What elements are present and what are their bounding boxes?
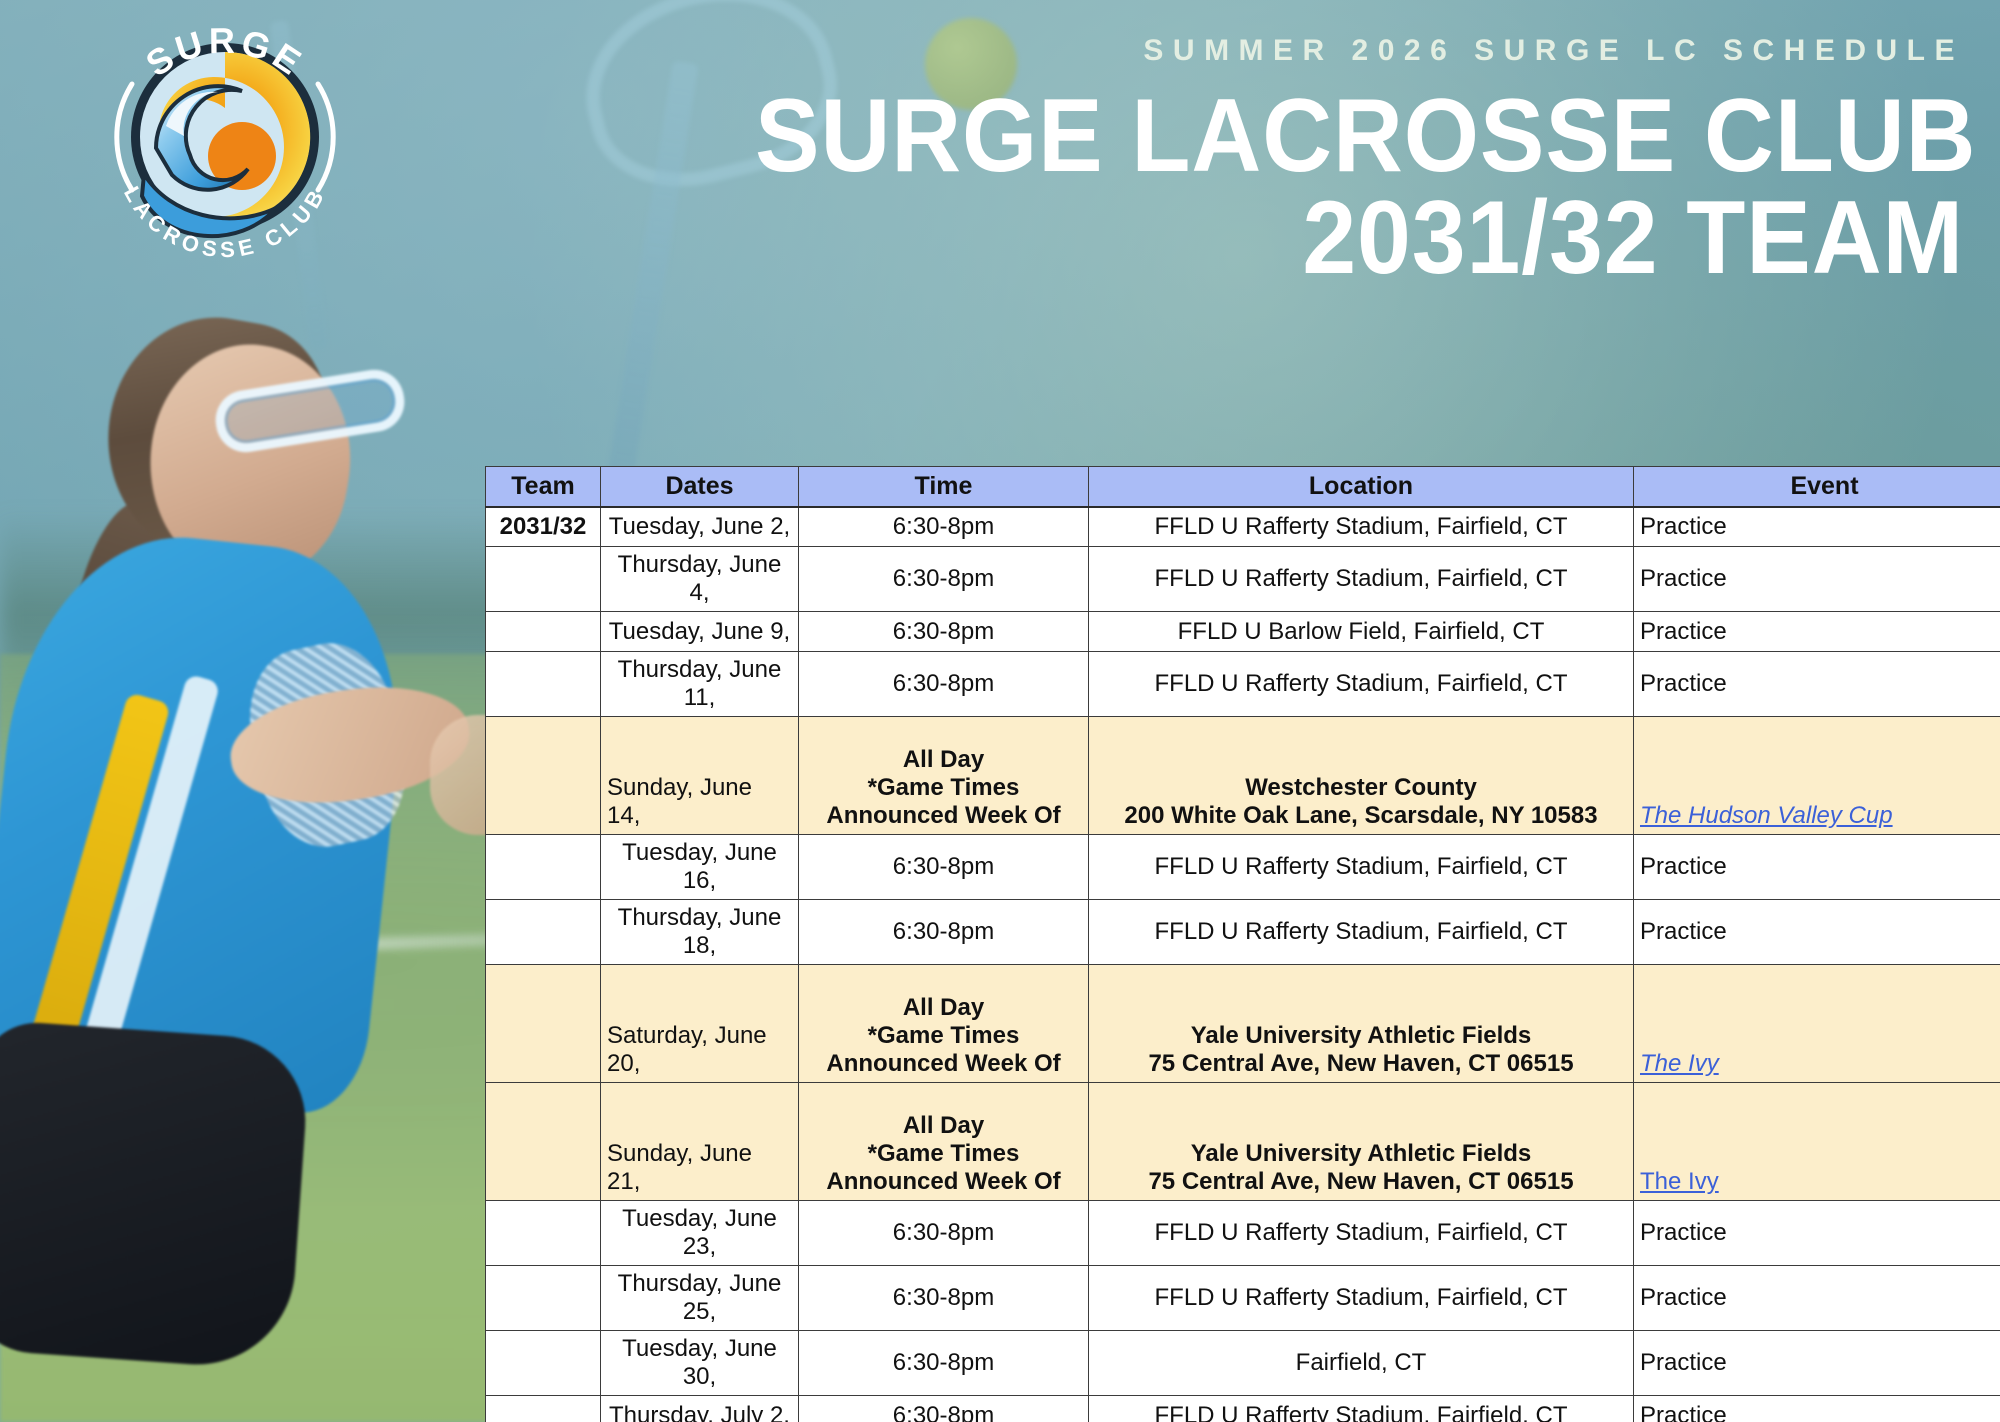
schedule-table: Team Dates Time Location Event 2031/32Tu… [485, 466, 2000, 1422]
cell-date: Sunday, June 21, [601, 1083, 799, 1201]
cell-date: Saturday, June 20, [601, 965, 799, 1083]
cell-event[interactable]: The Ivy [1634, 1083, 2000, 1201]
location-line: Westchester County [1095, 774, 1627, 802]
cell-date: Thursday, June 25, [601, 1266, 799, 1331]
header-kicker: SUMMER 2026 SURGE LC SCHEDULE [664, 34, 1964, 68]
location-spacer [1095, 994, 1627, 1022]
cell-date: Tuesday, June 23, [601, 1201, 799, 1266]
cell-date: Thursday, June 4, [601, 547, 799, 612]
cell-date: Tuesday, June 16, [601, 835, 799, 900]
cell-location: Yale University Athletic Fields75 Centra… [1089, 965, 1634, 1083]
cell-date: Tuesday, June 9, [601, 612, 799, 652]
cell-location: FFLD U Rafferty Stadium, Fairfield, CT [1089, 1396, 1634, 1422]
cell-time: 6:30-8pm [799, 1396, 1089, 1422]
header-title-line-1: SURGE LACROSSE CLUB [755, 86, 1964, 188]
cell-time: 6:30-8pm [799, 547, 1089, 612]
cell-time: 6:30-8pm [799, 612, 1089, 652]
cell-time: All Day*Game TimesAnnounced Week Of [799, 965, 1089, 1083]
cell-team: 2031/32 [486, 507, 601, 547]
cell-time: 6:30-8pm [799, 900, 1089, 965]
table-row: Thursday, June 4,6:30-8pmFFLD U Rafferty… [486, 547, 2000, 612]
cell-event: Practice [1634, 835, 2000, 900]
cell-team [486, 900, 601, 965]
event-link[interactable]: The Ivy [1640, 1050, 1719, 1077]
cell-location: Fairfield, CT [1089, 1331, 1634, 1396]
table-row: Tuesday, June 9,6:30-8pmFFLD U Barlow Fi… [486, 612, 2000, 652]
cell-event: Practice [1634, 900, 2000, 965]
cell-location: FFLD U Rafferty Stadium, Fairfield, CT [1089, 547, 1634, 612]
time-line: Announced Week Of [805, 1050, 1082, 1078]
location-line: Yale University Athletic Fields [1095, 1140, 1627, 1168]
table-row: Saturday, June 20,All Day*Game TimesAnno… [486, 965, 2000, 1083]
cell-team [486, 612, 601, 652]
cell-event: Practice [1634, 547, 2000, 612]
location-spacer [1095, 746, 1627, 774]
cell-event: Practice [1634, 1201, 2000, 1266]
table-header-row: Team Dates Time Location Event [486, 467, 2000, 507]
time-line: All Day [805, 1112, 1082, 1140]
table-row: Tuesday, June 23,6:30-8pmFFLD U Rafferty… [486, 1201, 2000, 1266]
cell-location: FFLD U Rafferty Stadium, Fairfield, CT [1089, 1201, 1634, 1266]
location-line: 75 Central Ave, New Haven, CT 06515 [1095, 1168, 1627, 1196]
cell-team [486, 717, 601, 835]
table-row: Tuesday, June 30,6:30-8pmFairfield, CTPr… [486, 1331, 2000, 1396]
player-shorts [0, 1019, 311, 1371]
cell-location: Westchester County200 White Oak Lane, Sc… [1089, 717, 1634, 835]
cell-date: Sunday, June 14, [601, 717, 799, 835]
cell-time: 6:30-8pm [799, 835, 1089, 900]
cell-time: 6:30-8pm [799, 507, 1089, 547]
table-row: Sunday, June 21,All Day*Game TimesAnnoun… [486, 1083, 2000, 1201]
table-row: 2031/32Tuesday, June 2,6:30-8pmFFLD U Ra… [486, 507, 2000, 547]
cell-team [486, 835, 601, 900]
cell-location: FFLD U Rafferty Stadium, Fairfield, CT [1089, 900, 1634, 965]
cell-time: 6:30-8pm [799, 1331, 1089, 1396]
cell-team [486, 1331, 601, 1396]
event-link[interactable]: The Ivy [1640, 1168, 1719, 1195]
cell-event[interactable]: The Hudson Valley Cup [1634, 717, 2000, 835]
header-title-line-2: 2031/32 TEAM [755, 188, 1964, 290]
cell-event: Practice [1634, 1396, 2000, 1422]
location-spacer [1095, 1112, 1627, 1140]
cell-location: FFLD U Rafferty Stadium, Fairfield, CT [1089, 507, 1634, 547]
cell-team [486, 1396, 601, 1422]
cell-time: 6:30-8pm [799, 1201, 1089, 1266]
table-row: Thursday, June 18,6:30-8pmFFLD U Raffert… [486, 900, 2000, 965]
cell-date: Thursday, June 11, [601, 652, 799, 717]
cell-location: FFLD U Rafferty Stadium, Fairfield, CT [1089, 835, 1634, 900]
header-block: SUMMER 2026 SURGE LC SCHEDULE SURGE LACR… [664, 34, 1964, 290]
location-line: 200 White Oak Lane, Scarsdale, NY 10583 [1095, 802, 1627, 830]
cell-date: Tuesday, June 2, [601, 507, 799, 547]
cell-event[interactable]: The Ivy [1634, 965, 2000, 1083]
cell-location: FFLD U Barlow Field, Fairfield, CT [1089, 612, 1634, 652]
table-row: Thursday, June 11,6:30-8pmFFLD U Raffert… [486, 652, 2000, 717]
time-line: Announced Week Of [805, 1168, 1082, 1196]
time-line: *Game Times [805, 774, 1082, 802]
cell-team [486, 1266, 601, 1331]
cell-date: Thursday, June 18, [601, 900, 799, 965]
table-row: Sunday, June 14,All Day*Game TimesAnnoun… [486, 717, 2000, 835]
cell-date: Tuesday, June 30, [601, 1331, 799, 1396]
cell-event: Practice [1634, 507, 2000, 547]
cell-location: FFLD U Rafferty Stadium, Fairfield, CT [1089, 1266, 1634, 1331]
location-line: 75 Central Ave, New Haven, CT 06515 [1095, 1050, 1627, 1078]
time-line: All Day [805, 746, 1082, 774]
cell-event: Practice [1634, 1266, 2000, 1331]
cell-event: Practice [1634, 1331, 2000, 1396]
logo-right-arc [318, 84, 333, 190]
cell-event: Practice [1634, 652, 2000, 717]
column-header-time: Time [799, 467, 1089, 507]
cell-location: Yale University Athletic Fields75 Centra… [1089, 1083, 1634, 1201]
table-row: Tuesday, June 16,6:30-8pmFFLD U Rafferty… [486, 835, 2000, 900]
cell-time: All Day*Game TimesAnnounced Week Of [799, 717, 1089, 835]
cell-time: 6:30-8pm [799, 1266, 1089, 1331]
time-line: All Day [805, 994, 1082, 1022]
time-line: *Game Times [805, 1022, 1082, 1050]
cell-time: 6:30-8pm [799, 652, 1089, 717]
table-row: Thursday, July 2,6:30-8pmFFLD U Rafferty… [486, 1396, 2000, 1422]
time-line: Announced Week Of [805, 802, 1082, 830]
cell-time: All Day*Game TimesAnnounced Week Of [799, 1083, 1089, 1201]
cell-team [486, 652, 601, 717]
cell-team [486, 1083, 601, 1201]
table-row: Thursday, June 25,6:30-8pmFFLD U Raffert… [486, 1266, 2000, 1331]
cell-team [486, 965, 601, 1083]
time-line: *Game Times [805, 1140, 1082, 1168]
event-link[interactable]: The Hudson Valley Cup [1640, 802, 1893, 829]
cell-location: FFLD U Rafferty Stadium, Fairfield, CT [1089, 652, 1634, 717]
cell-team [486, 1201, 601, 1266]
location-line: Yale University Athletic Fields [1095, 1022, 1627, 1050]
column-header-location: Location [1089, 467, 1634, 507]
logo-left-arc [117, 84, 132, 190]
cell-date: Thursday, July 2, [601, 1396, 799, 1422]
cell-event: Practice [1634, 612, 2000, 652]
column-header-event: Event [1634, 467, 2000, 507]
column-header-team: Team [486, 467, 601, 507]
surge-lacrosse-club-logo: SURGE LACROSSE CLUB [96, 6, 354, 268]
table-body: 2031/32Tuesday, June 2,6:30-8pmFFLD U Ra… [486, 507, 2000, 1422]
column-header-dates: Dates [601, 467, 799, 507]
cell-team [486, 547, 601, 612]
